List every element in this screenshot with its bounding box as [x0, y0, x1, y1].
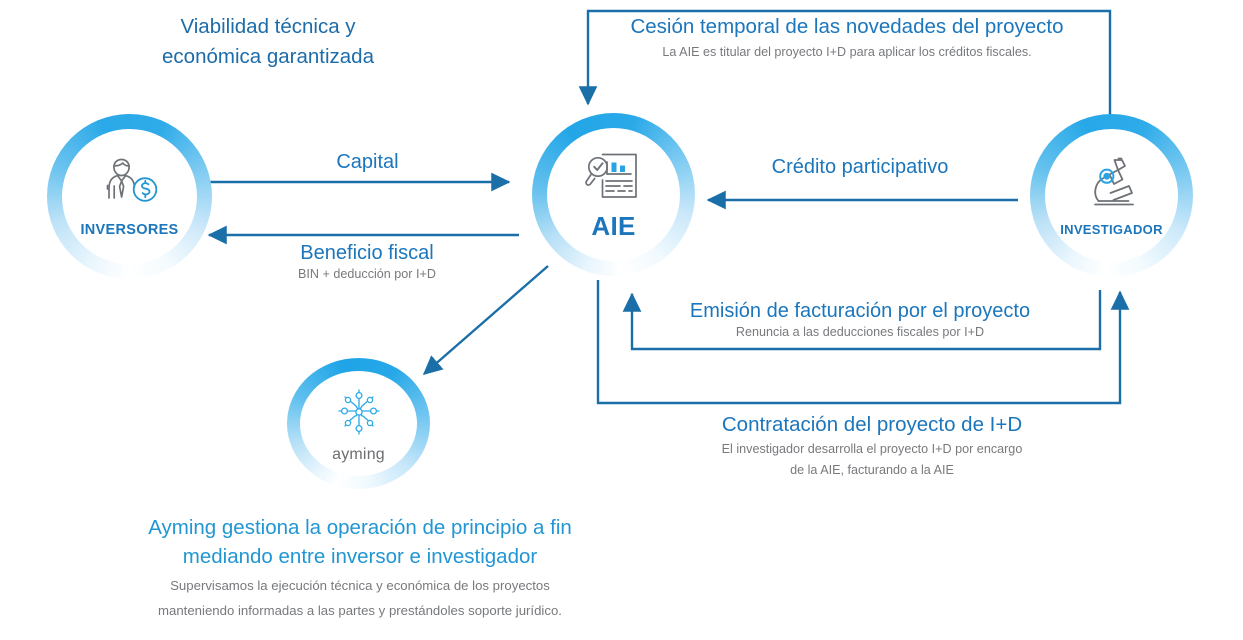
annotation-cesion-head: Cesión temporal de las novedades del pro… — [597, 14, 1097, 40]
annotation-cesion-sub: La AIE es titular del proyecto I+D para … — [597, 44, 1097, 61]
annotation-credito-head: Crédito participativo — [700, 155, 1020, 180]
diagram-canvas: INVERSORES — [0, 0, 1243, 640]
node-inversores-label: INVERSORES — [80, 223, 178, 238]
annotation-ayming-head-line2: mediando entre inversor e investigador — [80, 542, 640, 571]
annotation-ayming-sub-line2: manteniendo informadas a las partes y pr… — [80, 600, 640, 621]
annotation-contratacion-head: Contratación del proyecto de I+D — [664, 411, 1080, 438]
node-aie[interactable]: AIE — [532, 113, 695, 276]
annotation-credito-participativo: Crédito participativo — [700, 155, 1020, 180]
annotation-viabilidad-line1: Viabilidad técnica y — [69, 12, 467, 42]
investor-person-dollar-icon — [97, 155, 163, 218]
ayming-network-logo-icon — [332, 385, 386, 444]
annotation-ayming-sub-line1: Supervisamos la ejecución técnica y econ… — [80, 575, 640, 596]
annotation-contratacion-proyecto: Contratación del proyecto de I+D El inve… — [664, 411, 1080, 480]
annotation-ayming-head-line1: Ayming gestiona la operación de principi… — [80, 513, 640, 542]
annotation-viabilidad-line2: económica garantizada — [69, 42, 467, 72]
node-inversores-body: INVERSORES — [47, 114, 212, 279]
microscope-icon — [1081, 156, 1143, 217]
node-ayming-body: ayming — [287, 358, 430, 489]
annotation-beneficio-fiscal: Beneficio fiscal BIN + deducción por I+D — [222, 240, 512, 283]
node-inversores[interactable]: INVERSORES — [47, 114, 212, 279]
annotation-emision-sub: Renuncia a las deducciones fiscales por … — [640, 324, 1080, 341]
document-chart-magnifier-icon — [584, 150, 644, 209]
annotation-ayming-caption: Ayming gestiona la operación de principi… — [80, 513, 640, 621]
node-aie-label: AIE — [591, 213, 635, 239]
annotation-contratacion-sub-line2: de la AIE, facturando a la AIE — [664, 461, 1080, 480]
annotation-beneficio-head: Beneficio fiscal — [222, 240, 512, 266]
annotation-contratacion-sub-line1: El investigador desarrolla el proyecto I… — [664, 440, 1080, 459]
node-investigador[interactable]: INVESTIGADOR — [1030, 114, 1193, 277]
node-aie-body: AIE — [532, 113, 695, 276]
annotation-cesion-temporal: Cesión temporal de las novedades del pro… — [597, 14, 1097, 61]
annotation-capital-head: Capital — [220, 150, 515, 175]
node-investigador-label: INVESTIGADOR — [1060, 223, 1163, 236]
annotation-emision-facturacion: Emisión de facturación por el proyecto R… — [640, 298, 1080, 341]
annotation-beneficio-sub: BIN + deducción por I+D — [222, 266, 512, 283]
annotation-emision-head: Emisión de facturación por el proyecto — [640, 298, 1080, 324]
node-investigador-body: INVESTIGADOR — [1030, 114, 1193, 277]
node-ayming-label: ayming — [332, 447, 385, 463]
annotation-capital: Capital — [220, 150, 515, 175]
node-ayming[interactable]: ayming — [287, 358, 430, 489]
annotation-viabilidad: Viabilidad técnica y económica garantiza… — [69, 12, 467, 72]
